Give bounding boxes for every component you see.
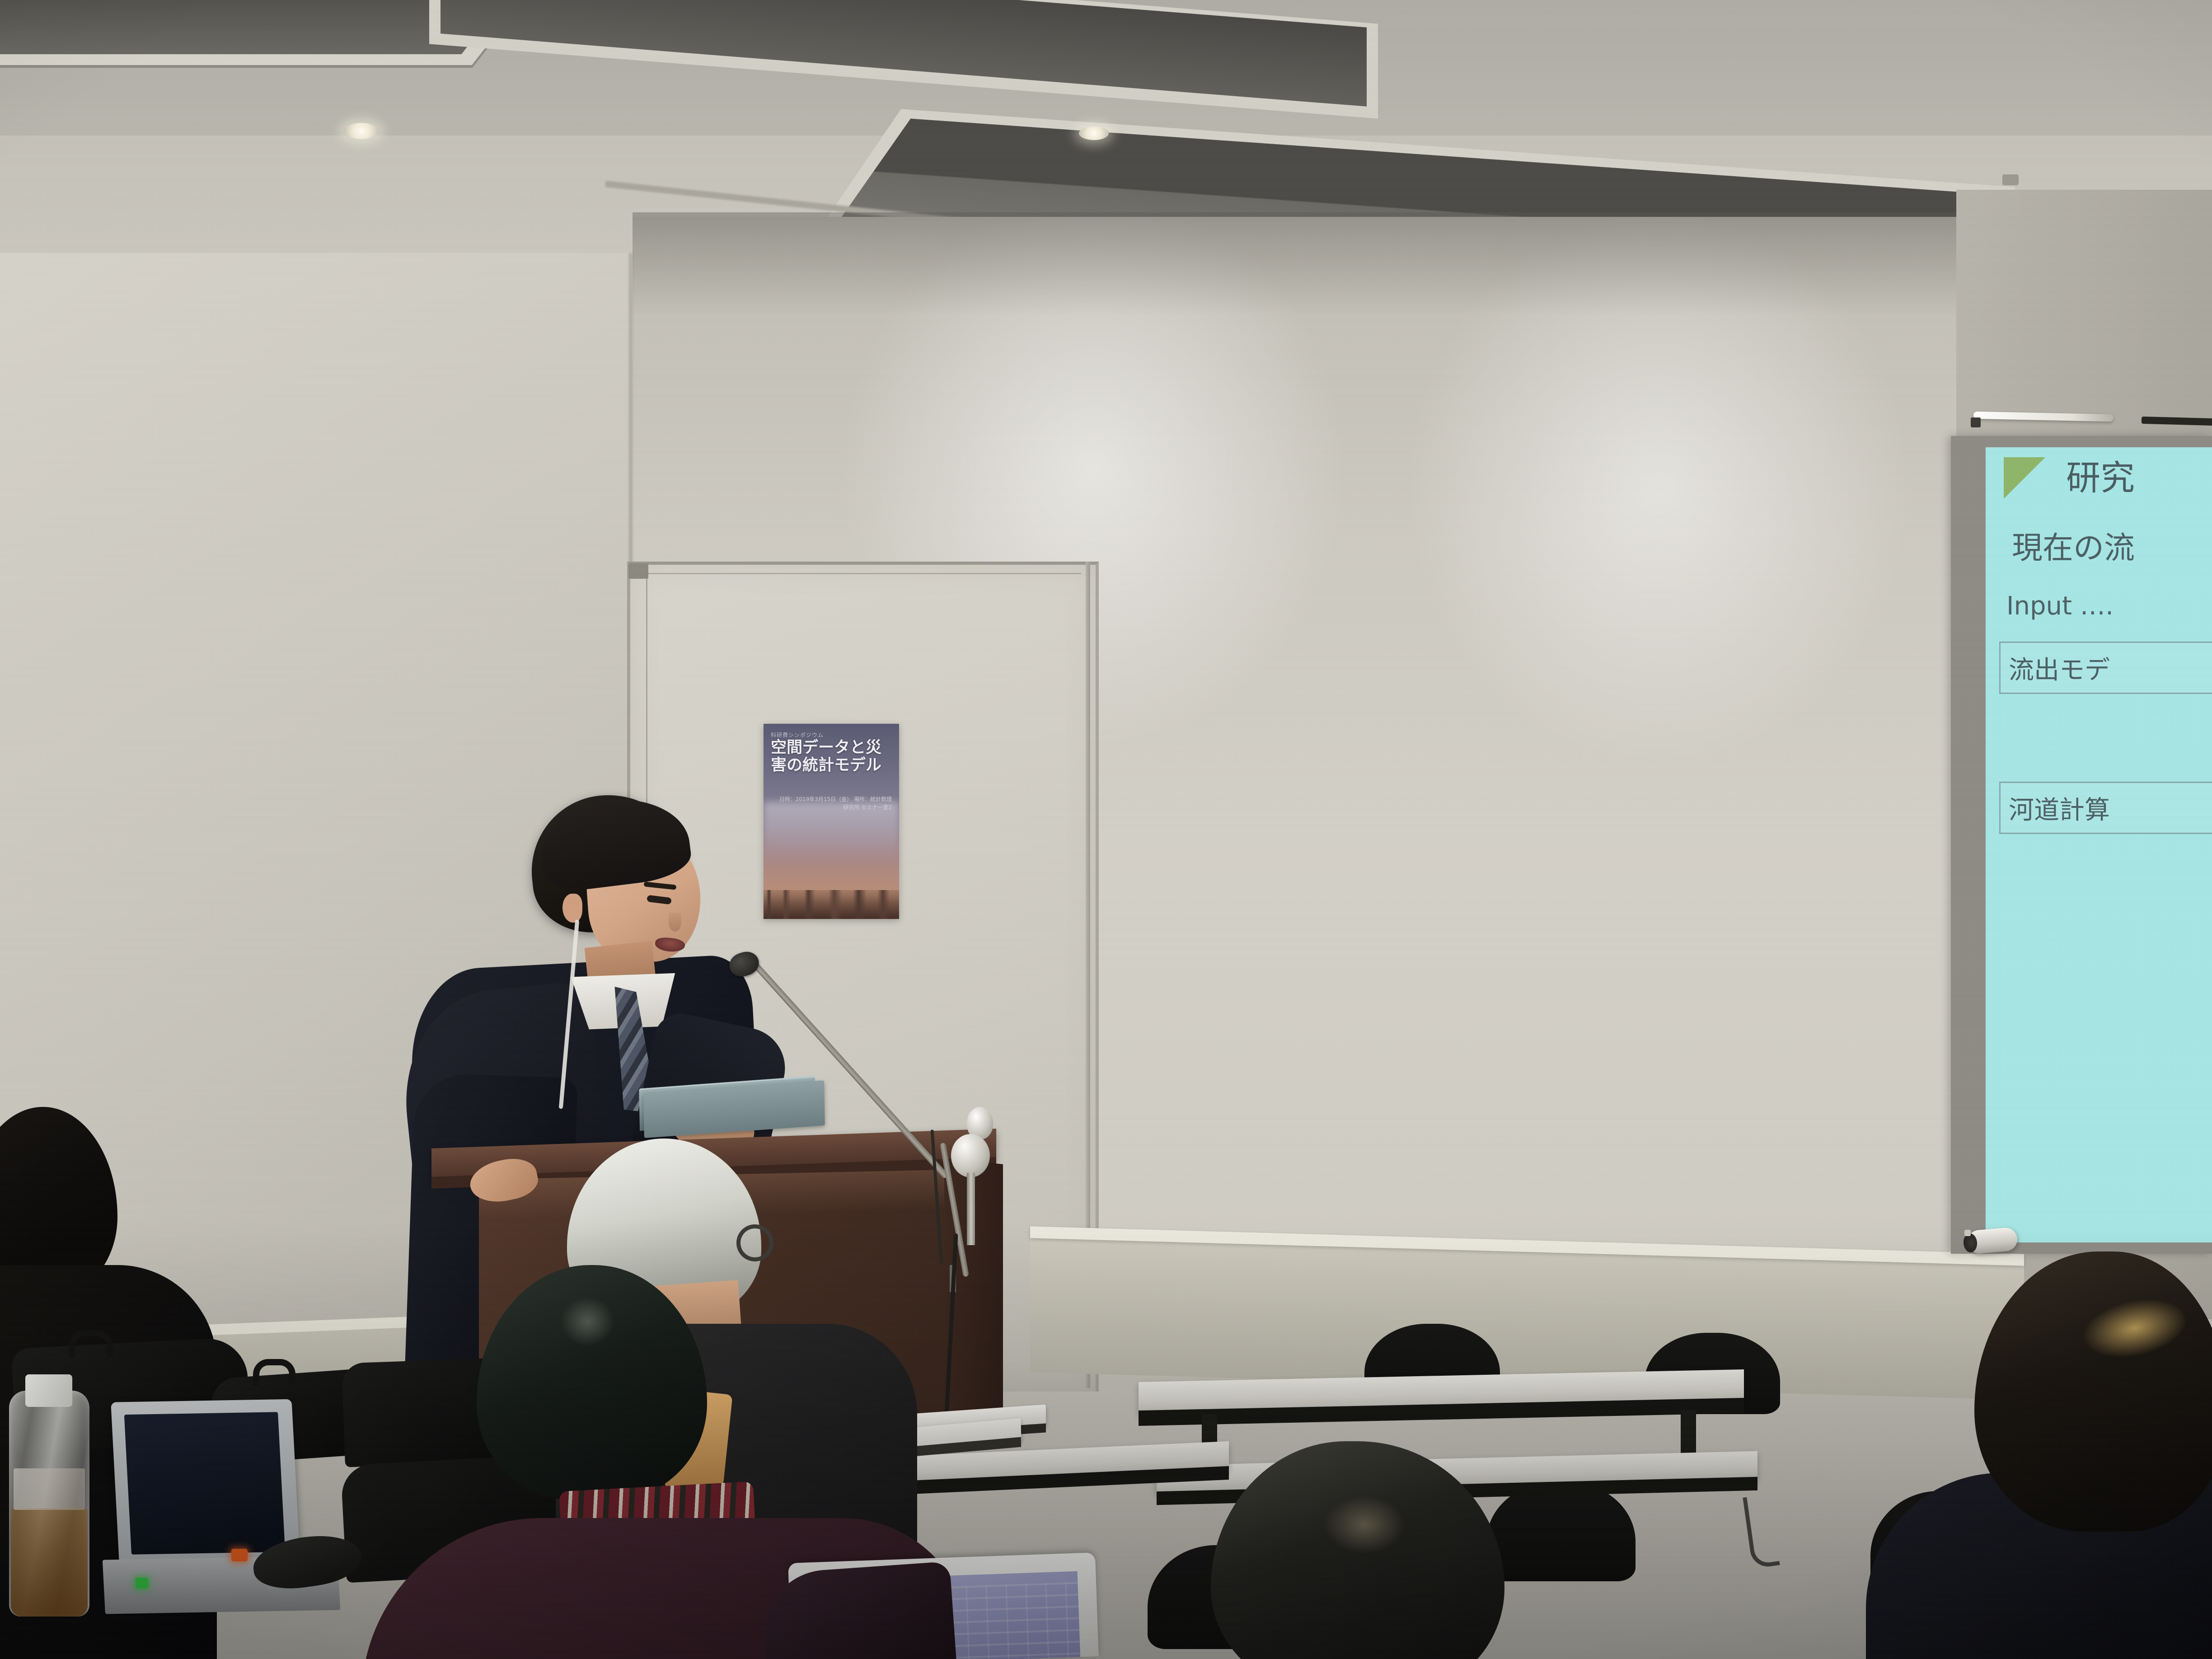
- slide-box-channel-calc: 河道計算: [1999, 782, 2212, 834]
- bag-hook-icon: [1743, 1494, 1780, 1569]
- attendee-hair-highlight: [560, 1297, 614, 1346]
- slide-heading: 研究: [2066, 461, 2135, 495]
- poster-kicker: 科研費シンポジウム: [771, 731, 824, 739]
- slide-input-line: Input ‥‥: [2006, 594, 2114, 619]
- wall-poster: 科研費シンポジウム 空間データと災害の統計モデル 日時：2019年3月15日（金…: [764, 724, 899, 919]
- poster-title: 空間データと災害の統計モデル: [771, 739, 895, 774]
- charge-led-icon: [231, 1549, 248, 1561]
- conference-room-photo: 科研費シンポジウム 空間データと災害の統計モデル 日時：2019年3月15日（金…: [0, 0, 2212, 1659]
- slide-subheading: 現在の流: [2012, 533, 2135, 564]
- laptop-screen-left[interactable]: [124, 1412, 285, 1555]
- projection-screen: 研究 現在の流 Input ‥‥ 流出モデ 河道計算: [1986, 447, 2212, 1242]
- sprinkler-head-icon: [2002, 174, 2019, 185]
- slide-box-runoff-model: 流出モデ: [1999, 642, 2212, 694]
- bag-handle-icon: [69, 1330, 113, 1357]
- water-bottle-cap-icon: [25, 1374, 72, 1407]
- door-hinge-icon: [628, 563, 648, 579]
- wall-top-shadow: [633, 212, 1988, 316]
- chrome-bell-stem: [967, 1173, 975, 1245]
- attendee-hair-highlight: [1324, 1495, 1405, 1554]
- chair[interactable]: [1486, 1482, 1636, 1581]
- slide-accent-triangle-icon: [2004, 457, 2045, 499]
- poster-skyline-graphic: [764, 890, 899, 919]
- presenter-nose: [669, 913, 681, 932]
- water-bottle-contents: [11, 1508, 88, 1617]
- water-bottle-label: [14, 1468, 85, 1510]
- chrome-bell-lower: [951, 1134, 990, 1177]
- spotlight-clip-icon: [1964, 1230, 1971, 1236]
- presenter-ear: [562, 894, 582, 923]
- downlight-icon: [343, 123, 380, 139]
- bag-handle-icon: [253, 1359, 295, 1385]
- screen-rail-end-cap: [1971, 417, 1981, 427]
- poster-subtitle: 日時：2019年3月15日（金） 場所：統計数理研究所 セミナー室2: [779, 795, 892, 811]
- downlight-icon: [1079, 127, 1109, 140]
- power-led-icon: [136, 1578, 148, 1589]
